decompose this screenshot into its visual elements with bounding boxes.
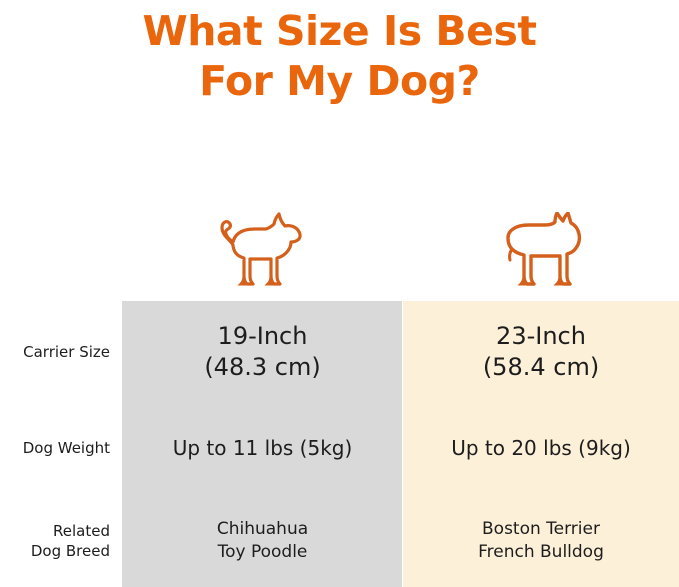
row-label-carrier-size: Carrier Size [0,342,122,362]
page-title-line-2: For My Dog? [0,56,679,106]
cell-line-2: Toy Poodle [122,541,403,564]
row-label-line-1: Related [0,521,110,541]
row-label-line-1: Dog Weight [0,438,110,458]
page-title-line-1: What Size Is Best [0,6,679,56]
table-row-related-dog-breed: Related Dog Breed Chihuahua Toy Poodle B… [0,495,679,587]
cell-line-1: Boston Terrier [403,518,679,541]
row-label-dog-weight: Dog Weight [0,438,122,458]
row-label-line-1: Carrier Size [0,342,110,362]
cell-line-1: Up to 20 lbs (9kg) [403,435,679,461]
row-label-line-2: Dog Breed [0,541,110,561]
cell-line-1: 23-Inch [403,321,679,352]
small-dog-icon-container [122,212,402,296]
page-title: What Size Is Best For My Dog? [0,6,679,106]
cell-line-2: French Bulldog [403,541,679,564]
cell-line-2: (48.3 cm) [122,352,403,383]
cell-carrier-size-large: 23-Inch (58.4 cm) [403,321,679,383]
cell-line-2: (58.4 cm) [403,352,679,383]
small-dog-icon [214,212,310,292]
table-row-carrier-size: Carrier Size 19-Inch (48.3 cm) 23-Inch (… [0,303,679,401]
cell-related-dog-breed-large: Boston Terrier French Bulldog [403,518,679,564]
cell-carrier-size-small: 19-Inch (48.3 cm) [122,321,403,383]
large-dog-icon-container [403,212,679,296]
cell-related-dog-breed-small: Chihuahua Toy Poodle [122,518,403,564]
cell-line-1: Chihuahua [122,518,403,541]
row-label-related-dog-breed: Related Dog Breed [0,521,122,561]
cell-line-1: 19-Inch [122,321,403,352]
cell-dog-weight-small: Up to 11 lbs (5kg) [122,435,403,461]
table-row-dog-weight: Dog Weight Up to 11 lbs (5kg) Up to 20 l… [0,401,679,495]
large-dog-icon [493,212,589,292]
cell-dog-weight-large: Up to 20 lbs (9kg) [403,435,679,461]
cell-line-1: Up to 11 lbs (5kg) [122,435,403,461]
